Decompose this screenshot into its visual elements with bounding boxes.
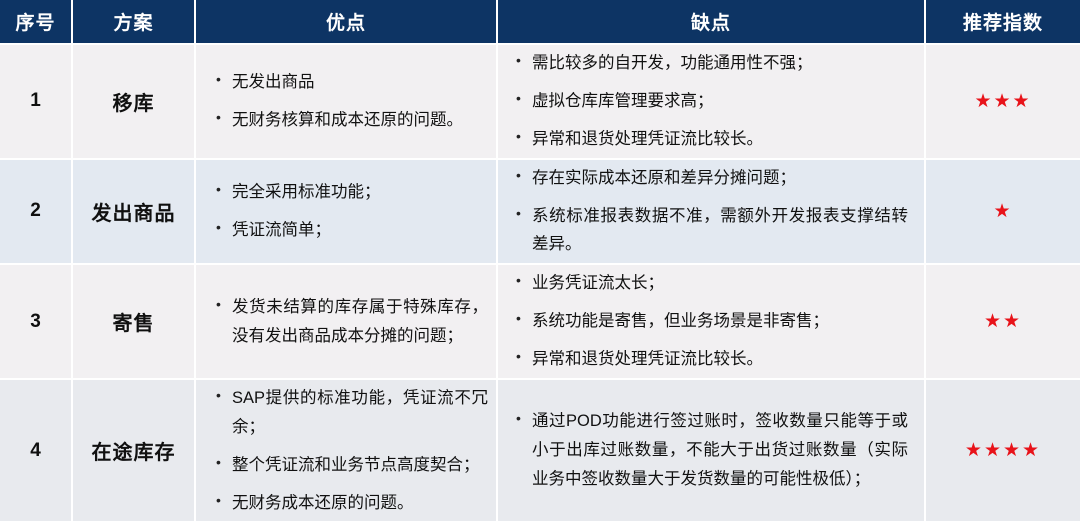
row-index-cell: 3	[0, 264, 72, 379]
list-item: 无财务成本还原的问题。	[214, 489, 488, 518]
column-header-plan: 方案	[72, 0, 195, 44]
column-header-rating: 推荐指数	[925, 0, 1080, 44]
row-cons-cell: 业务凭证流太长； 系统功能是寄售，但业务场景是非寄售； 异常和退货处理凭证流比较…	[497, 264, 925, 379]
table-row: 2 发出商品 完全采用标准功能； 凭证流简单； 存在实际成本还原和差异分摊问题；…	[0, 159, 1080, 265]
row-rating-cell: ★★★	[925, 44, 1080, 159]
row-pros-cell: 完全采用标准功能； 凭证流简单；	[195, 159, 497, 265]
cons-list: 存在实际成本还原和差异分摊问题； 系统标准报表数据不准，需额外开发报表支撑结转差…	[498, 160, 924, 264]
star-rating-icon: ★★★	[974, 90, 1031, 113]
list-item: 整个凭证流和业务节点高度契合；	[214, 451, 488, 480]
row-index-cell: 1	[0, 44, 72, 159]
cons-list: 业务凭证流太长； 系统功能是寄售，但业务场景是非寄售； 异常和退货处理凭证流比较…	[498, 265, 924, 378]
pros-list: 发货未结算的库存属于特殊库存，没有发出商品成本分摊的问题；	[196, 289, 496, 355]
star-rating-icon: ★★	[984, 310, 1022, 333]
row-cons-cell: 需比较多的自开发，功能通用性不强； 虚拟仓库库管理要求高； 异常和退货处理凭证流…	[497, 44, 925, 159]
table-row: 3 寄售 发货未结算的库存属于特殊库存，没有发出商品成本分摊的问题； 业务凭证流…	[0, 264, 1080, 379]
list-item: 发货未结算的库存属于特殊库存，没有发出商品成本分摊的问题；	[214, 293, 488, 351]
row-pros-cell: 无发出商品 无财务核算和成本还原的问题。	[195, 44, 497, 159]
star-rating-icon: ★	[993, 200, 1012, 223]
row-pros-cell: 发货未结算的库存属于特殊库存，没有发出商品成本分摊的问题；	[195, 264, 497, 379]
pros-list: 无发出商品 无财务核算和成本还原的问题。	[196, 64, 496, 139]
column-header-index: 序号	[0, 0, 72, 44]
row-plan-cell: 在途库存	[72, 379, 195, 521]
row-plan-cell: 发出商品	[72, 159, 195, 265]
list-item: 无财务核算和成本还原的问题。	[214, 106, 488, 135]
row-plan-cell: 移库	[72, 44, 195, 159]
row-cons-cell: 存在实际成本还原和差异分摊问题； 系统标准报表数据不准，需额外开发报表支撑结转差…	[497, 159, 925, 265]
table-body: 1 移库 无发出商品 无财务核算和成本还原的问题。 需比较多的自开发，功能通用性…	[0, 44, 1080, 521]
pros-list: 完全采用标准功能； 凭证流简单；	[196, 174, 496, 249]
column-header-cons: 缺点	[497, 0, 925, 44]
row-rating-cell: ★★	[925, 264, 1080, 379]
pros-list: SAP提供的标准功能，凭证流不冗余； 整个凭证流和业务节点高度契合； 无财务成本…	[196, 380, 496, 521]
list-item: 虚拟仓库库管理要求高；	[514, 87, 908, 116]
table-header: 序号 方案 优点 缺点 推荐指数	[0, 0, 1080, 44]
row-plan-cell: 寄售	[72, 264, 195, 379]
list-item: 异常和退货处理凭证流比较长。	[514, 125, 908, 154]
list-item: 通过POD功能进行签过账时，签收数量只能等于或小于出库过账数量，不能大于出货过账…	[514, 407, 908, 494]
column-header-pros: 优点	[195, 0, 497, 44]
list-item: 系统标准报表数据不准，需额外开发报表支撑结转差异。	[514, 202, 908, 260]
row-index-cell: 2	[0, 159, 72, 265]
list-item: 系统功能是寄售，但业务场景是非寄售；	[514, 307, 908, 336]
list-item: 需比较多的自开发，功能通用性不强；	[514, 49, 908, 78]
list-item: 业务凭证流太长；	[514, 269, 908, 298]
list-item: 存在实际成本还原和差异分摊问题；	[514, 164, 908, 193]
list-item: 无发出商品	[214, 68, 488, 97]
list-item: SAP提供的标准功能，凭证流不冗余；	[214, 384, 488, 442]
table-row: 4 在途库存 SAP提供的标准功能，凭证流不冗余； 整个凭证流和业务节点高度契合…	[0, 379, 1080, 521]
row-cons-cell: 通过POD功能进行签过账时，签收数量只能等于或小于出库过账数量，不能大于出货过账…	[497, 379, 925, 521]
cons-list: 需比较多的自开发，功能通用性不强； 虚拟仓库库管理要求高； 异常和退货处理凭证流…	[498, 45, 924, 158]
list-item: 完全采用标准功能；	[214, 178, 488, 207]
comparison-table-container: 序号 方案 优点 缺点 推荐指数 1 移库 无发出商品 无财务核算和成本还原的问…	[0, 0, 1080, 511]
list-item: 异常和退货处理凭证流比较长。	[514, 345, 908, 374]
row-rating-cell: ★	[925, 159, 1080, 265]
row-rating-cell: ★★★★	[925, 379, 1080, 521]
scheme-comparison-table: 序号 方案 优点 缺点 推荐指数 1 移库 无发出商品 无财务核算和成本还原的问…	[0, 0, 1080, 521]
row-pros-cell: SAP提供的标准功能，凭证流不冗余； 整个凭证流和业务节点高度契合； 无财务成本…	[195, 379, 497, 521]
cons-list: 通过POD功能进行签过账时，签收数量只能等于或小于出库过账数量，不能大于出货过账…	[498, 403, 924, 498]
table-header-row: 序号 方案 优点 缺点 推荐指数	[0, 0, 1080, 44]
list-item: 凭证流简单；	[214, 216, 488, 245]
table-row: 1 移库 无发出商品 无财务核算和成本还原的问题。 需比较多的自开发，功能通用性…	[0, 44, 1080, 159]
row-index-cell: 4	[0, 379, 72, 521]
star-rating-icon: ★★★★	[965, 439, 1041, 462]
